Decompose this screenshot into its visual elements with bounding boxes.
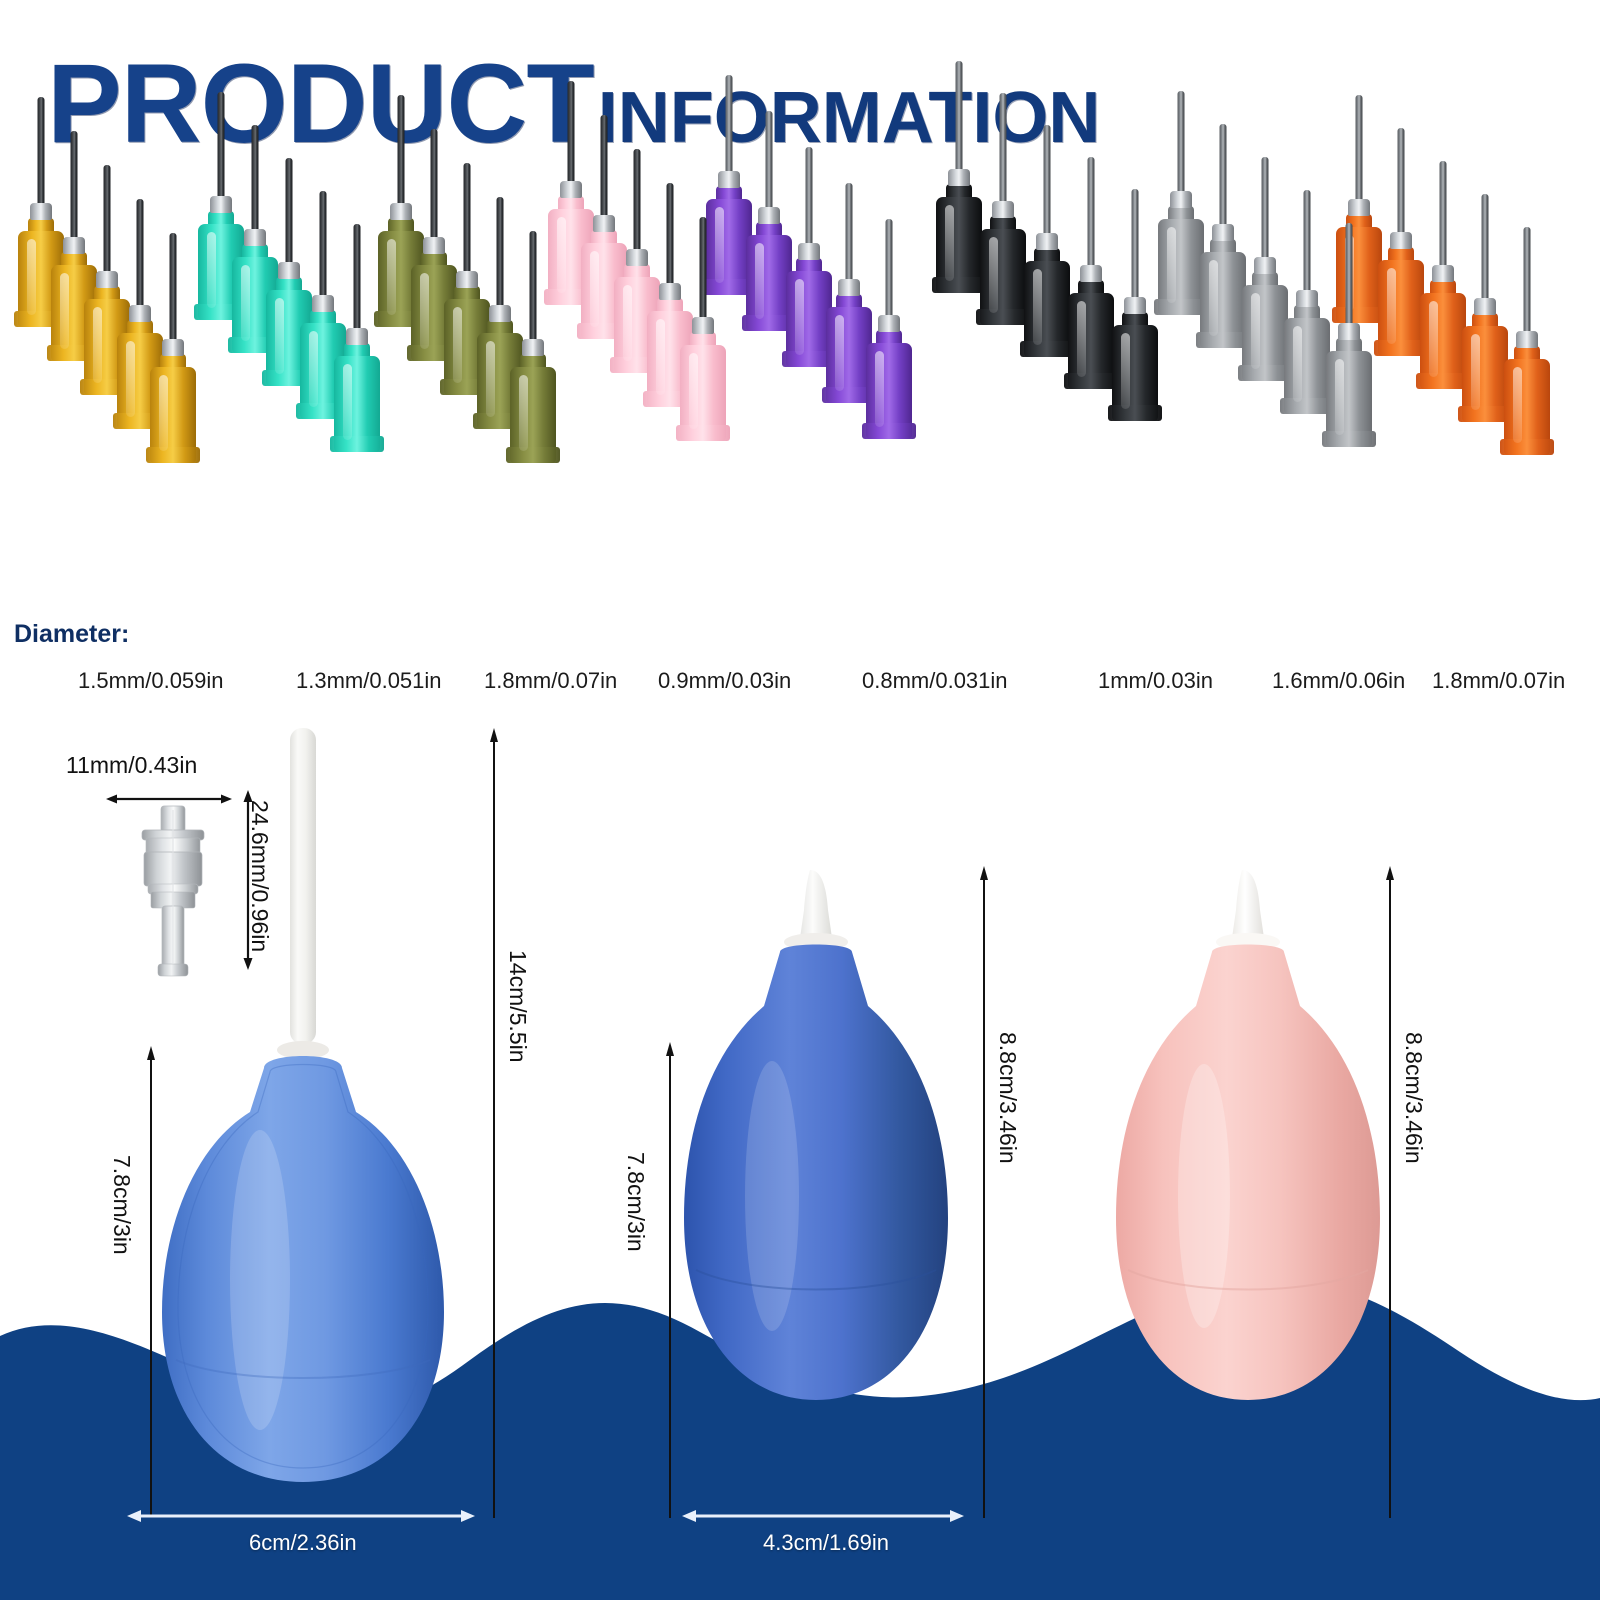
needle-hub-body: [680, 345, 726, 441]
diameter-label-smoke: 1.6mm/0.06in: [1272, 668, 1405, 694]
needle-hub-body: [1284, 318, 1330, 414]
needle-shaft-icon: [1482, 194, 1489, 302]
needle-metal-collar-icon: [30, 203, 52, 220]
needle-shaft-icon: [38, 97, 45, 207]
needle-shaft-icon: [137, 199, 144, 309]
bulb3-total-height-label: 8.8cm/3.46in: [1400, 1032, 1427, 1164]
bulb1-height-label: 7.8cm/3in: [108, 1155, 135, 1255]
needle-tip: [1462, 194, 1508, 422]
needle-hub-body: [980, 229, 1026, 325]
needle-tip: [150, 233, 196, 463]
needle-metal-collar-icon: [1432, 265, 1454, 282]
needle-tip: [1158, 91, 1204, 315]
needle-metal-collar-icon: [1036, 233, 1058, 250]
needle-tip: [1378, 128, 1424, 356]
needle-shaft-icon: [104, 165, 111, 275]
needle-metal-collar-icon: [522, 339, 544, 356]
needle-metal-collar-icon: [659, 283, 681, 300]
needle-tip: [936, 61, 982, 293]
needle-shaft-icon: [497, 197, 504, 309]
needle-metal-collar-icon: [1124, 297, 1146, 314]
needle-tips-display: [0, 205, 1600, 645]
bulb-medium-blue-illustration: [672, 866, 972, 1506]
needle-metal-collar-icon: [96, 271, 118, 288]
needle-shaft-icon: [1524, 227, 1531, 335]
needle-metal-collar-icon: [1254, 257, 1276, 274]
needle-metal-collar-icon: [1212, 224, 1234, 241]
needle-metal-collar-icon: [456, 271, 478, 288]
needle-shaft-icon: [320, 191, 327, 299]
bulb-large-blue-illustration: [152, 720, 482, 1510]
diameter-label-pink: 0.9mm/0.03in: [658, 668, 791, 694]
bulb2-total-height-label: 8.8cm/3.46in: [994, 1032, 1021, 1164]
needle-shaft-icon: [1356, 95, 1363, 203]
needle-shaft-icon: [766, 111, 773, 211]
needle-tip: [1284, 190, 1330, 414]
needle-shaft-icon: [1440, 161, 1447, 269]
needle-tip: [1200, 124, 1246, 348]
bulb3-total-height-arrow: [1384, 866, 1396, 1518]
bulb2-total-height-arrow: [978, 866, 990, 1518]
needle-shaft-icon: [601, 115, 608, 219]
title-main-text: PRODUCT: [47, 48, 594, 160]
needle-metal-collar-icon: [210, 196, 232, 213]
needle-metal-collar-icon: [244, 229, 266, 246]
product-information-infographic: PRODUCT INFORMATION Diameter: 1.5mm/0.05…: [0, 0, 1600, 1600]
needle-tip: [510, 231, 556, 463]
needle-shaft-icon: [398, 95, 405, 207]
diameter-label-orange: 1.8mm/0.07in: [1432, 668, 1565, 694]
needle-shaft-icon: [700, 217, 707, 321]
needle-shaft-icon: [1304, 190, 1311, 294]
needle-hub-body: [510, 367, 556, 463]
needle-shaft-icon: [1346, 223, 1353, 327]
needle-metal-collar-icon: [312, 295, 334, 312]
needle-shaft-icon: [1178, 91, 1185, 195]
needle-metal-collar-icon: [992, 201, 1014, 218]
diameter-label-olive: 1.8mm/0.07in: [484, 668, 617, 694]
needle-shaft-icon: [218, 92, 225, 200]
needle-hub-body: [1200, 252, 1246, 348]
needle-metal-collar-icon: [423, 237, 445, 254]
bulb-pink: [1110, 866, 1410, 1506]
needle-hub-body: [1378, 260, 1424, 356]
diameter-label-purple: 0.8mm/0.031in: [862, 668, 1008, 694]
bulb1-width-label: 6cm/2.36in: [249, 1530, 357, 1556]
needle-metal-collar-icon: [718, 171, 740, 188]
needle-tip: [1112, 189, 1158, 421]
needle-metal-collar-icon: [948, 169, 970, 186]
needle-metal-collar-icon: [346, 328, 368, 345]
needle-metal-collar-icon: [489, 305, 511, 322]
needle-shaft-icon: [1220, 124, 1227, 228]
needle-hub-body: [1326, 351, 1372, 447]
bulb2-width-arrow: [682, 1508, 964, 1524]
needle-shaft-icon: [1000, 93, 1007, 205]
needle-metal-collar-icon: [390, 203, 412, 220]
needle-metal-collar-icon: [692, 317, 714, 334]
needle-shaft-icon: [568, 81, 575, 185]
needle-shaft-icon: [634, 149, 641, 253]
needle-shaft-icon: [806, 147, 813, 247]
needle-hub-body: [1068, 293, 1114, 389]
needle-tip: [680, 217, 726, 441]
needle-metal-collar-icon: [758, 207, 780, 224]
needle-hub-body: [1242, 285, 1288, 381]
needle-shaft-icon: [1132, 189, 1139, 301]
needle-tip: [866, 219, 912, 439]
needle-hub-body: [1462, 326, 1508, 422]
needle-shaft-icon: [431, 129, 438, 241]
needle-metal-collar-icon: [1338, 323, 1360, 340]
needle-metal-collar-icon: [1516, 331, 1538, 348]
needle-tip: [1242, 157, 1288, 381]
needle-shaft-icon: [170, 233, 177, 343]
needle-hub-body: [1024, 261, 1070, 357]
needle-metal-collar-icon: [1390, 232, 1412, 249]
needle-shaft-icon: [1262, 157, 1269, 261]
diameter-heading: Diameter:: [14, 620, 129, 649]
needle-metal-collar-icon: [1296, 290, 1318, 307]
needle-metal-collar-icon: [63, 237, 85, 254]
needle-shaft-icon: [354, 224, 361, 332]
needle-shaft-icon: [956, 61, 963, 173]
needle-metal-collar-icon: [1170, 191, 1192, 208]
needle-metal-collar-icon: [1080, 265, 1102, 282]
diameter-label-teal: 1.3mm/0.051in: [296, 668, 442, 694]
needle-tip: [1326, 223, 1372, 447]
needle-metal-collar-icon: [798, 243, 820, 260]
bulb2-height-arrow: [664, 1042, 676, 1518]
needle-metal-collar-icon: [878, 315, 900, 332]
needle-metal-collar-icon: [1474, 298, 1496, 315]
needle-hub-body: [866, 343, 912, 439]
needle-shaft-icon: [726, 75, 733, 175]
needle-shaft-icon: [464, 163, 471, 275]
needle-tip: [1024, 125, 1070, 357]
needle-metal-collar-icon: [593, 215, 615, 232]
needle-hub-body: [1504, 359, 1550, 455]
needle-shaft-icon: [1088, 157, 1095, 269]
bulb1-total-height-arrow: [488, 728, 500, 1518]
needle-shaft-icon: [1044, 125, 1051, 237]
needle-hub-body: [1420, 293, 1466, 389]
needle-shaft-icon: [667, 183, 674, 287]
needle-shaft-icon: [286, 158, 293, 266]
bulb-medium-blue: [672, 866, 972, 1506]
needle-metal-collar-icon: [1348, 199, 1370, 216]
needle-metal-collar-icon: [626, 249, 648, 266]
needle-metal-collar-icon: [162, 339, 184, 356]
needle-tip: [1068, 157, 1114, 389]
needle-tip: [1420, 161, 1466, 389]
needle-hub-body: [1158, 219, 1204, 315]
needle-metal-collar-icon: [838, 279, 860, 296]
needle-shaft-icon: [252, 125, 259, 233]
needle-shaft-icon: [1398, 128, 1405, 236]
diameter-label-amber: 1.5mm/0.059in: [78, 668, 224, 694]
needle-tip: [334, 224, 380, 452]
diameter-label-black: 1mm/0.03in: [1098, 668, 1213, 694]
needle-hub-body: [936, 197, 982, 293]
needle-shaft-icon: [71, 131, 78, 241]
bulb1-width-arrow: [127, 1508, 475, 1524]
bulb1-height-arrow: [145, 1046, 157, 1516]
bulb-large-blue: [152, 720, 482, 1510]
needle-tip: [980, 93, 1026, 325]
needle-tip: [1504, 227, 1550, 455]
needle-metal-collar-icon: [560, 181, 582, 198]
bulb2-width-label: 4.3cm/1.69in: [763, 1530, 889, 1556]
needle-metal-collar-icon: [278, 262, 300, 279]
needle-shaft-icon: [530, 231, 537, 343]
bulb-pink-illustration: [1110, 866, 1410, 1506]
bulb2-height-label: 7.8cm/3in: [622, 1152, 649, 1252]
needle-shaft-icon: [846, 183, 853, 283]
needle-metal-collar-icon: [129, 305, 151, 322]
needle-hub-body: [334, 356, 380, 452]
bulb1-total-height-label: 14cm/5.5in: [504, 950, 531, 1063]
needle-hub-body: [1112, 325, 1158, 421]
needle-hub-body: [150, 367, 196, 463]
needle-shaft-icon: [886, 219, 893, 319]
